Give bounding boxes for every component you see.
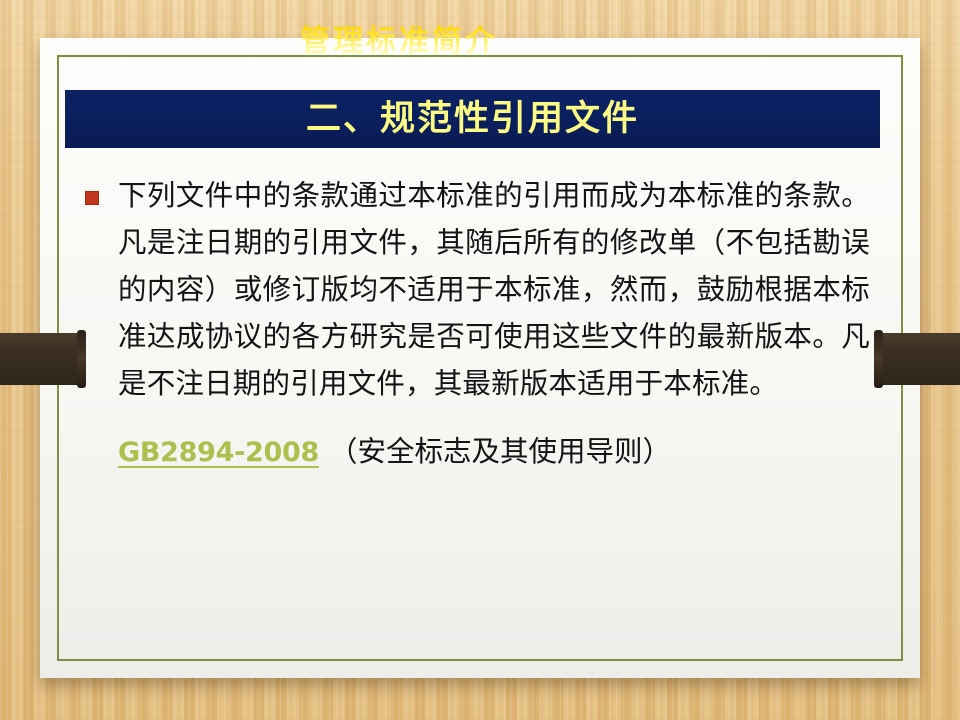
bullet-paragraph-block: 下列文件中的条款通过本标准的引用而成为本标准的条款。凡是注日期的引用文件，其随后…	[80, 172, 870, 407]
deck-title: 管理标准简介	[300, 16, 498, 60]
clamp-bar-right-icon	[878, 333, 960, 385]
slide-body: 下列文件中的条款通过本标准的引用而成为本标准的条款。凡是注日期的引用文件，其随后…	[80, 172, 870, 470]
presentation-slide: 二、规范性引用文件 管理标准简介 下列文件中的条款通过本标准的引用而成为本标准的…	[0, 0, 960, 720]
standard-description: （安全标志及其使用导则）	[329, 429, 671, 470]
standard-hyperlink[interactable]: GB2894-2008	[118, 437, 319, 468]
standard-reference-line: GB2894-2008 （安全标志及其使用导则）	[80, 429, 870, 470]
body-paragraph: 下列文件中的条款通过本标准的引用而成为本标准的条款。凡是注日期的引用文件，其随后…	[118, 172, 870, 407]
slide-header-title: 二、规范性引用文件	[306, 102, 639, 137]
square-bullet-icon	[85, 191, 99, 205]
clamp-bar-left-icon	[0, 333, 82, 385]
slide-header-bar: 二、规范性引用文件	[65, 90, 880, 148]
